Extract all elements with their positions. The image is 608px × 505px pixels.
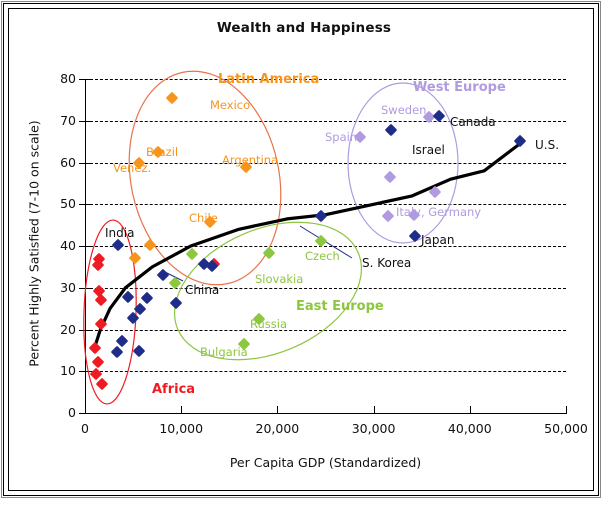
point-label: Canada — [450, 115, 496, 129]
point-label: Slovakia — [255, 272, 303, 286]
point-label: Mexico — [210, 98, 250, 112]
point-label: S. Korea — [362, 256, 411, 270]
point-label: Argentina — [222, 153, 278, 167]
point-label: China — [185, 283, 219, 297]
point-label: Russia — [250, 317, 287, 331]
group-label: Africa — [152, 382, 195, 397]
point-label: U.S. — [535, 138, 559, 152]
point-label: Sweden — [381, 103, 426, 117]
chart-canvas: Wealth and Happiness Percent Highly Sati… — [0, 0, 608, 505]
point-label: Czech — [305, 249, 340, 263]
point-label: Chile — [189, 211, 218, 225]
group-label: East Europe — [296, 299, 384, 314]
point-label: Venez. — [113, 161, 151, 175]
point-label: Italy, Germany — [396, 205, 481, 219]
point-label: Bulgaria — [200, 345, 248, 359]
point-label: Israel — [412, 143, 445, 157]
point-label: Spain — [325, 130, 357, 144]
point-label: India — [105, 226, 134, 240]
trendline — [94, 142, 523, 351]
point-label: Brazil — [146, 145, 178, 159]
group-label: West Europe — [413, 80, 506, 95]
group-label: Latin America — [218, 72, 319, 87]
point-label: Japan — [421, 233, 454, 247]
